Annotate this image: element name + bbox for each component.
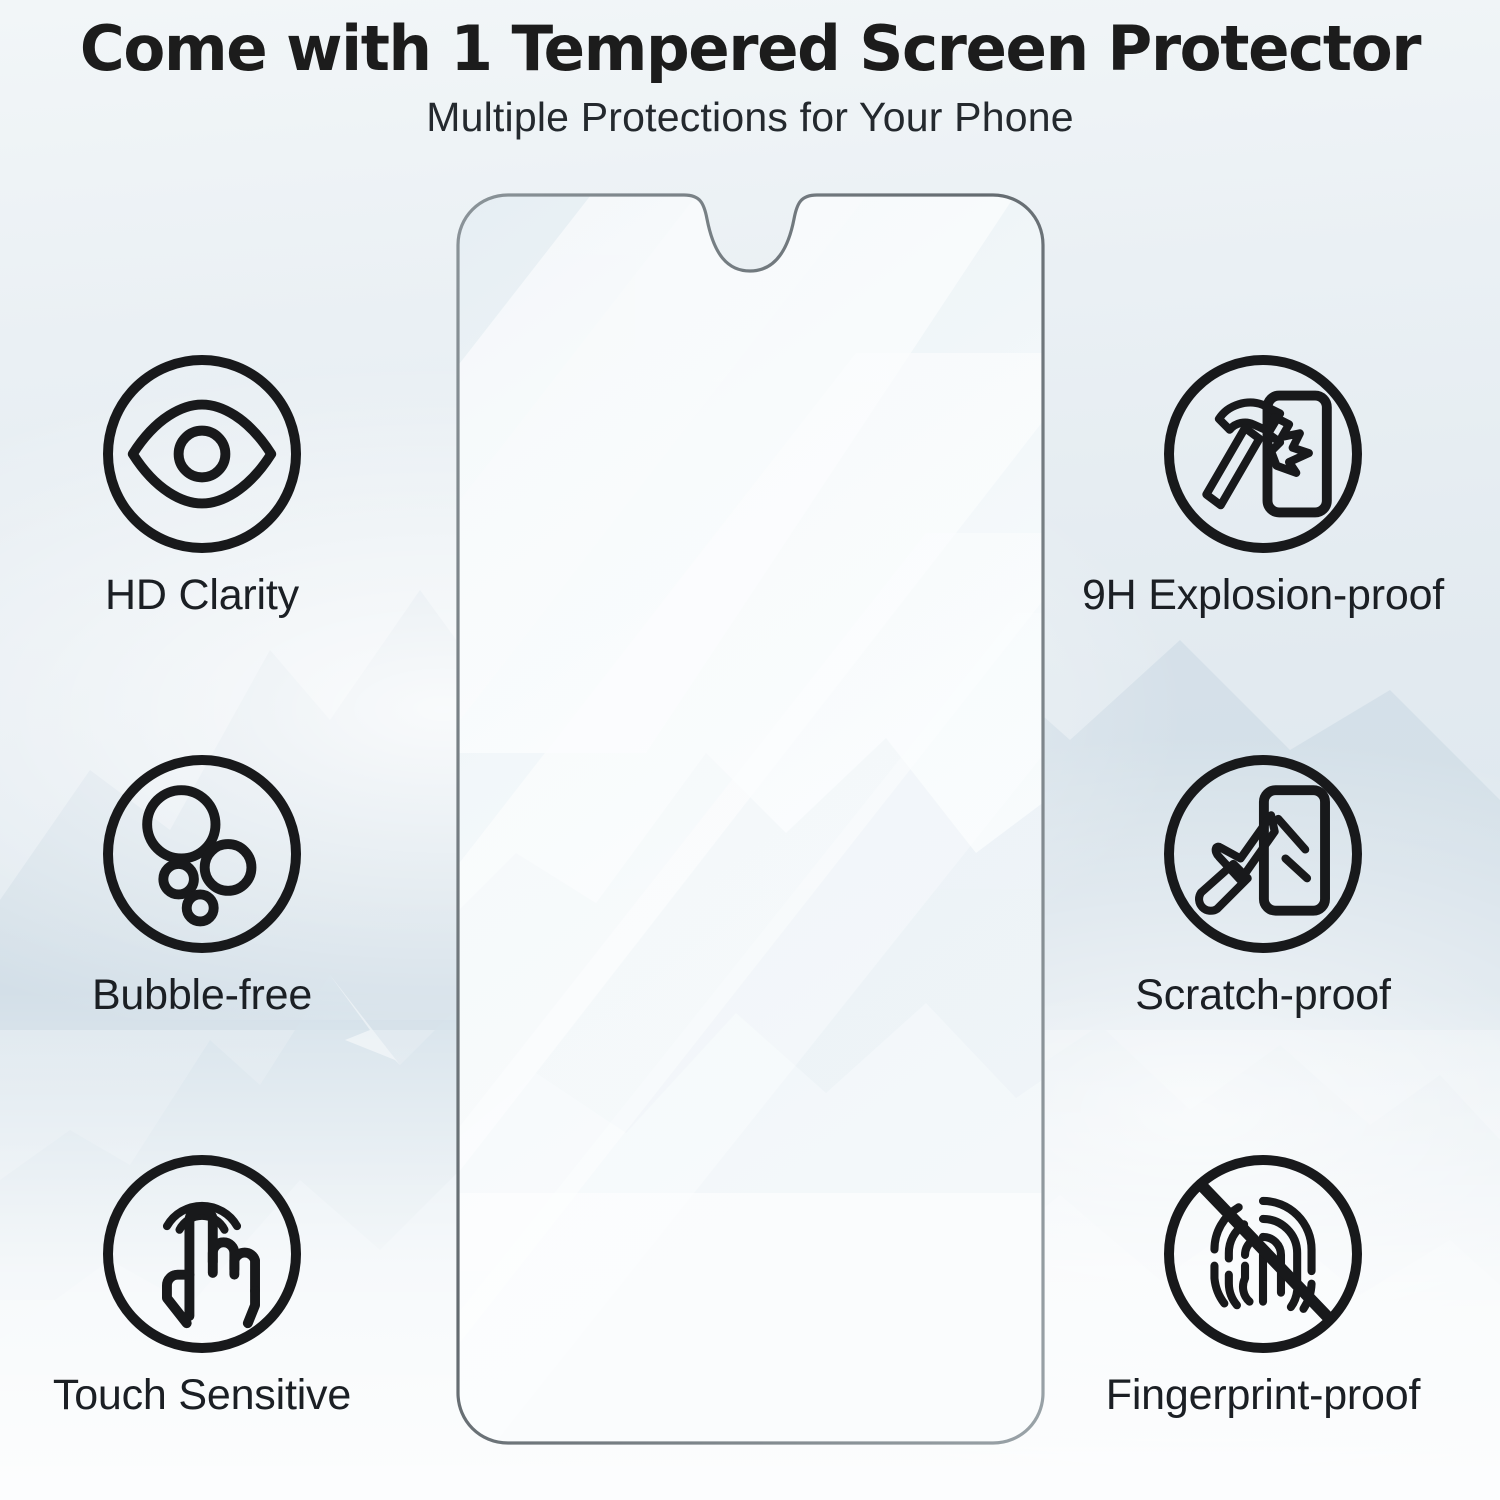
hammer-phone-icon [1164, 355, 1362, 553]
feature-bubble-free: Bubble-free [0, 755, 412, 1020]
feature-label: Touch Sensitive [0, 1371, 412, 1420]
knife-phone-icon [1164, 755, 1362, 953]
eye-icon [103, 355, 301, 553]
feature-label: HD Clarity [0, 571, 412, 620]
fingerprint-blocked-icon [1164, 1155, 1362, 1353]
feature-hd-clarity: HD Clarity [0, 355, 412, 620]
feature-label: Bubble-free [0, 971, 412, 1020]
feature-label: Fingerprint-proof [1053, 1371, 1473, 1420]
page-title: Come with 1 Tempered Screen Protector [11, 12, 1489, 85]
touch-hand-icon [103, 1155, 301, 1353]
feature-explosion-proof: 9H Explosion-proof [1053, 355, 1473, 620]
bubbles-icon [103, 755, 301, 953]
feature-scratch-proof: Scratch-proof [1053, 755, 1473, 1020]
page-subtitle: Multiple Protections for Your Phone [0, 94, 1500, 141]
screen-protector-glass [456, 193, 1045, 1445]
feature-label: 9H Explosion-proof [1053, 571, 1473, 620]
feature-touch-sensitive: Touch Sensitive [0, 1155, 412, 1420]
feature-fingerprint-proof: Fingerprint-proof [1053, 1155, 1473, 1420]
feature-label: Scratch-proof [1053, 971, 1473, 1020]
